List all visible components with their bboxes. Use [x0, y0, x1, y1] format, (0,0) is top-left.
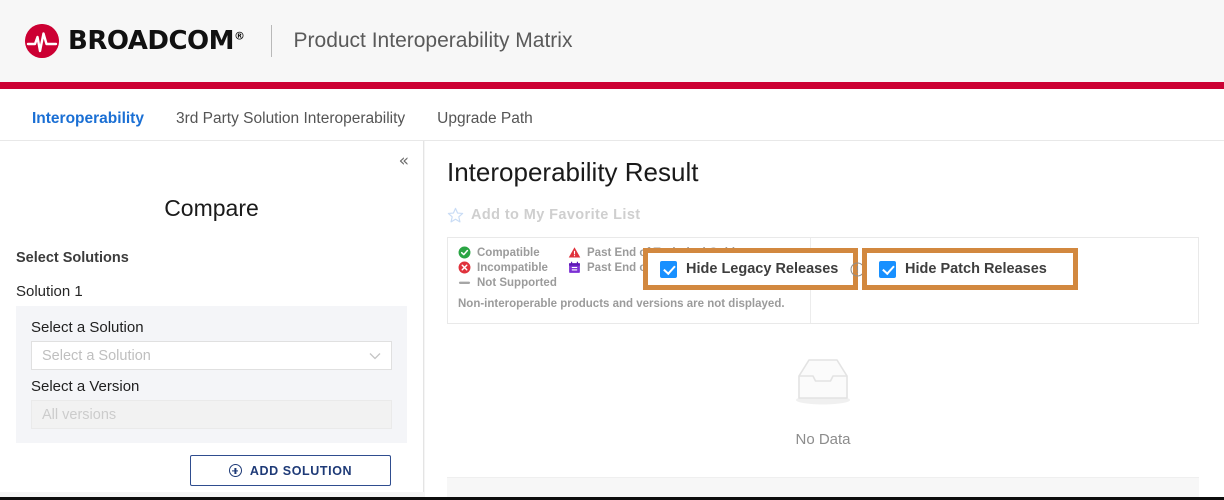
select-version-placeholder: All versions — [42, 407, 116, 423]
page-title: Product Interoperability Matrix — [294, 29, 573, 53]
x-circle-red-icon — [458, 261, 471, 274]
dash-grey-icon — [458, 276, 471, 289]
legend-label-not-supported: Not Supported — [477, 277, 557, 289]
add-solution-button[interactable]: ADD SOLUTION — [190, 455, 391, 486]
tab-bar: Interoperability 3rd Party Solution Inte… — [0, 89, 1224, 141]
empty-state-label: No Data — [795, 431, 850, 448]
legend-item-not-supported: Not Supported — [458, 276, 568, 289]
select-version-input[interactable]: All versions — [31, 400, 392, 429]
registered-mark: ® — [234, 29, 245, 42]
compare-heading: Compare — [0, 141, 423, 222]
warning-triangle-red-icon — [568, 246, 581, 259]
hide-legacy-releases-checkbox[interactable] — [660, 261, 677, 278]
legend-item-compatible: Compatible — [458, 246, 568, 259]
brand-wordmark-text: BROADCOM — [68, 26, 234, 56]
hide-patch-releases-checkbox[interactable] — [879, 261, 896, 278]
add-favorite-row[interactable]: Add to My Favorite List Hide Legacy Rele… — [425, 198, 1224, 232]
app-header: BROADCOM® Product Interoperability Matri… — [0, 0, 1224, 82]
brand-wordmark: BROADCOM® — [68, 26, 245, 56]
brand[interactable]: BROADCOM® — [0, 24, 245, 58]
result-heading: Interoperability Result — [425, 141, 1224, 188]
app-root: BROADCOM® Product Interoperability Matri… — [0, 0, 1224, 500]
tab-3rd-party-solution-interoperability[interactable]: 3rd Party Solution Interoperability — [176, 89, 405, 146]
legend-label-incompatible: Incompatible — [477, 262, 548, 274]
hide-patch-releases-highlight: Hide Patch Releases — [862, 248, 1078, 290]
hide-legacy-releases-highlight: Hide Legacy Releases — [643, 248, 858, 290]
add-favorite-label: Add to My Favorite List — [471, 207, 641, 223]
collapse-sidebar-icon[interactable]: « — [399, 153, 409, 170]
legend-note: Non-interoperable products and versions … — [458, 298, 810, 310]
select-solutions-label: Select Solutions — [0, 222, 423, 266]
compare-sidebar: « Compare Select Solutions Solution 1 Se… — [0, 141, 424, 492]
broadcom-pulse-logo-icon — [25, 24, 59, 58]
empty-inbox-icon — [789, 354, 857, 413]
select-version-label: Select a Version — [31, 378, 392, 395]
body-area: « Compare Select Solutions Solution 1 Se… — [0, 141, 1224, 500]
add-solution-button-label: ADD SOLUTION — [250, 464, 352, 478]
plus-circle-icon — [229, 464, 242, 477]
brand-accent-bar — [0, 82, 1224, 89]
hide-patch-releases-control[interactable]: Hide Patch Releases — [867, 261, 1047, 278]
interoperability-result-panel: Interoperability Result Add to My Favori… — [425, 141, 1224, 500]
hide-legacy-releases-control[interactable]: Hide Legacy Releases — [648, 261, 865, 278]
select-solution-placeholder: Select a Solution — [42, 348, 151, 364]
solution-1-label: Solution 1 — [0, 266, 423, 306]
tab-interoperability[interactable]: Interoperability — [32, 89, 144, 146]
add-solution-row: ADD SOLUTION — [0, 443, 423, 486]
calendar-purple-icon — [568, 261, 581, 274]
check-circle-green-icon — [458, 246, 471, 259]
header-divider — [271, 25, 272, 57]
hide-legacy-releases-label: Hide Legacy Releases — [686, 261, 838, 277]
select-solution-dropdown[interactable]: Select a Solution — [31, 341, 392, 370]
select-solution-label: Select a Solution — [31, 319, 392, 336]
chevron-down-icon — [369, 349, 381, 363]
legend-label-compatible: Compatible — [477, 247, 540, 259]
hide-patch-releases-label: Hide Patch Releases — [905, 261, 1047, 277]
solution-1-card: Select a Solution Select a Solution Sele… — [16, 306, 407, 443]
empty-state: No Data — [447, 325, 1199, 477]
star-outline-icon — [447, 207, 464, 224]
tab-upgrade-path[interactable]: Upgrade Path — [437, 89, 533, 146]
legend-item-incompatible: Incompatible — [458, 261, 568, 274]
